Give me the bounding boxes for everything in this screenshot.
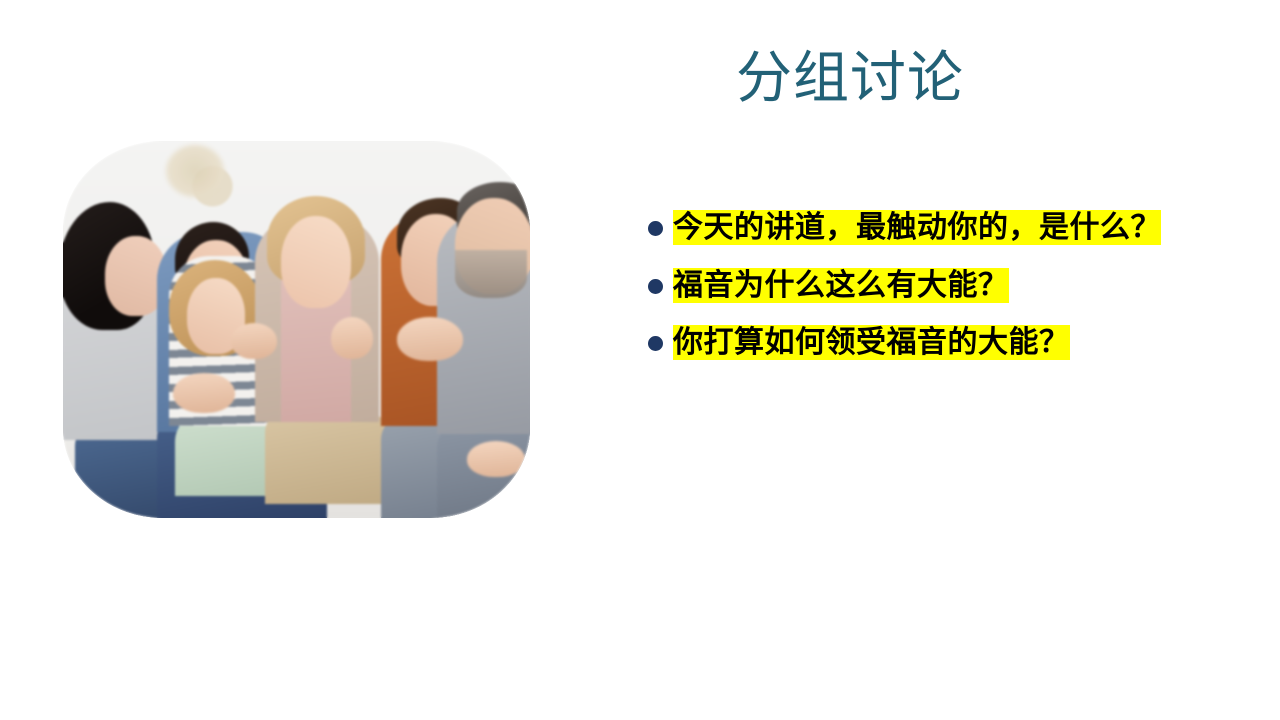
group-discussion-photo <box>63 141 530 518</box>
bullet-dot-icon <box>648 221 663 236</box>
joined-hands-2 <box>231 323 277 359</box>
bullet-text: 福音为什么这么有大能？ <box>673 266 1208 306</box>
bullet-text-highlight: 福音为什么这么有大能？ <box>673 268 1009 303</box>
joined-hands-5 <box>467 441 525 477</box>
discussion-questions-list: 今天的讲道，最触动你的，是什么？ 福音为什么这么有大能？ 你打算如何领受福音的大… <box>648 208 1208 363</box>
slide: 分组讨论 <box>0 0 1280 720</box>
joined-hands-4 <box>397 317 463 361</box>
bullet-text-highlight: 今天的讲道，最触动你的，是什么？ <box>673 210 1161 245</box>
list-item: 你打算如何领受福音的大能？ <box>648 323 1208 363</box>
list-item: 今天的讲道，最触动你的，是什么？ <box>648 208 1208 248</box>
photo-person-4 <box>255 182 395 518</box>
bullet-dot-icon <box>648 336 663 351</box>
joined-hands-1 <box>173 373 235 413</box>
bullet-text: 你打算如何领受福音的大能？ <box>673 323 1208 363</box>
bullet-text: 今天的讲道，最触动你的，是什么？ <box>673 208 1208 248</box>
joined-hands-3 <box>331 317 373 359</box>
page-title: 分组讨论 <box>620 48 1080 111</box>
bullet-dot-icon <box>648 279 663 294</box>
list-item: 福音为什么这么有大能？ <box>648 266 1208 306</box>
bullet-text-highlight: 你打算如何领受福音的大能？ <box>673 325 1070 360</box>
photo-canvas <box>63 141 530 518</box>
